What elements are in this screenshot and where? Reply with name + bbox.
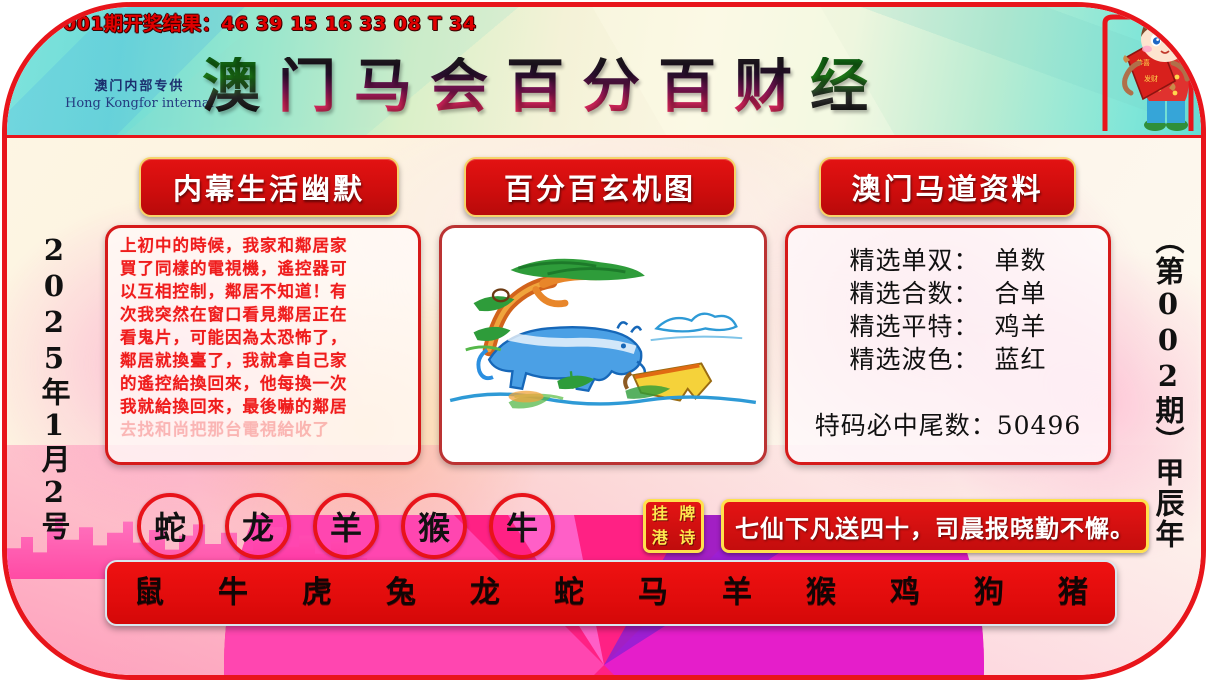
- zodiac-picks-row: 蛇 龙 羊 猴 牛: [137, 493, 555, 559]
- masthead-title: 澳 门 马 会 百 分 百 财 经: [202, 57, 868, 115]
- info-rows: 精选单双： 单数 精选合数： 合单 精选平特： 鸡羊 精选波色： 蓝红 特码必中…: [788, 228, 1108, 442]
- draw-result-line: 001期开奖结果：46 39 15 16 33 08 T 34: [63, 9, 477, 36]
- banner-picture[interactable]: 百分百玄机图: [464, 157, 736, 217]
- info-value: 鸡羊: [994, 310, 1046, 343]
- info-value: 蓝红: [994, 343, 1046, 376]
- info-row: 精选波色： 蓝红: [798, 343, 1098, 376]
- banner-info-label: 澳门马道资料: [851, 166, 1043, 208]
- masthead-char-7: 财: [734, 57, 792, 115]
- poem-badge-char: 挂: [652, 506, 668, 522]
- banner-joke[interactable]: 内幕生活幽默: [139, 157, 399, 217]
- joke-line: 看鬼片，可能因為太恐怖了，: [120, 326, 408, 349]
- poem-badge-char: 港: [652, 530, 668, 546]
- banner-picture-label: 百分百玄机图: [504, 166, 696, 208]
- zodiac-pick[interactable]: 猴: [401, 493, 467, 559]
- masthead-char-3: 会: [430, 57, 488, 115]
- mystery-picture: [449, 235, 757, 455]
- picture-panel: [439, 225, 767, 465]
- info-key: 精选合数：: [850, 277, 980, 310]
- info-row: 精选单双： 单数: [798, 244, 1098, 277]
- masthead-char-6: 百: [658, 57, 716, 115]
- info-panel: 精选单双： 单数 精选合数： 合单 精选平特： 鸡羊 精选波色： 蓝红 特码必中…: [785, 225, 1111, 465]
- joke-line: 我就給換回來，最後嚇的鄰居: [120, 395, 408, 418]
- zodiac-pick[interactable]: 蛇: [137, 493, 203, 559]
- section-banner-row: 内幕生活幽默 百分百玄机图 澳门马道资料: [7, 157, 1201, 219]
- masthead-char-1: 门: [278, 57, 336, 115]
- joke-line: 買了同樣的電視機，遙控器可: [120, 257, 408, 280]
- poem-text: 七仙下凡送四十，司晨报晓勤不懈。: [735, 509, 1135, 544]
- zodiac-pick[interactable]: 羊: [313, 493, 379, 559]
- zodiac-strip-item[interactable]: 蛇: [554, 576, 584, 610]
- poem-badge[interactable]: 挂 牌 港 诗: [643, 499, 704, 553]
- banner-joke-label: 内幕生活幽默: [173, 166, 365, 208]
- joke-text: 上初中的時候，我家和鄰居家 買了同樣的電視機，遙控器可 以互相控制，鄰居不知道！…: [108, 228, 418, 441]
- zodiac-strip-item[interactable]: 狗: [974, 576, 1004, 610]
- info-row: 精选合数： 合单: [798, 277, 1098, 310]
- zodiac-strip-item[interactable]: 兔: [386, 576, 416, 610]
- joke-panel: 上初中的時候，我家和鄰居家 買了同樣的電視機，遙控器可 以互相控制，鄰居不知道！…: [105, 225, 421, 465]
- masthead-char-8: 经: [810, 57, 868, 115]
- masthead-char-2: 马: [354, 57, 412, 115]
- site-logo: 澳门内部专供 Hong Kongfor internal: [65, 75, 214, 111]
- joke-line-faded: 去找和尚把那台電視給收了: [120, 418, 408, 441]
- zodiac-strip: 鼠 牛 虎 兔 龙 蛇 马 羊 猴 鸡 狗 猪: [105, 560, 1117, 626]
- zodiac-strip-item[interactable]: 羊: [722, 576, 752, 610]
- info-value: 合单: [994, 277, 1046, 310]
- info-key: 精选平特：: [850, 310, 980, 343]
- poem-badge-char: 牌: [679, 506, 695, 522]
- special-tail-label: 特码必中尾数：: [815, 411, 997, 440]
- info-row: 精选平特： 鸡羊: [798, 310, 1098, 343]
- joke-line: 以互相控制，鄰居不知道！有: [120, 280, 408, 303]
- masthead-char-5: 分: [582, 57, 640, 115]
- mascot-child-icon: 恭喜 发财: [1099, 13, 1195, 135]
- poem-badge-char: 诗: [679, 530, 695, 546]
- zodiac-pick[interactable]: 龙: [225, 493, 291, 559]
- special-tail-value: 50496: [997, 411, 1082, 440]
- joke-line: 鄰居就換臺了，我就拿自己家: [120, 349, 408, 372]
- zodiac-strip-item[interactable]: 虎: [302, 576, 332, 610]
- poster-frame: 001期开奖结果：46 39 15 16 33 08 T 34 澳门内部专供 H…: [2, 2, 1206, 680]
- special-tail-row: 特码必中尾数：50496: [798, 406, 1098, 442]
- zodiac-strip-item[interactable]: 鸡: [890, 576, 920, 610]
- info-key: 精选波色：: [850, 343, 980, 376]
- zodiac-strip-item[interactable]: 马: [638, 576, 668, 610]
- banner-info[interactable]: 澳门马道资料: [819, 157, 1076, 217]
- info-key: 精选单双：: [850, 244, 980, 277]
- issue-date-vertical: 2025年1月2号: [21, 222, 75, 552]
- poster-root: 001期开奖结果：46 39 15 16 33 08 T 34 澳门内部专供 H…: [0, 0, 1208, 682]
- zodiac-strip-item[interactable]: 鼠: [134, 576, 164, 610]
- logo-chinese: 澳门内部专供: [65, 75, 214, 94]
- zodiac-pick[interactable]: 牛: [489, 493, 555, 559]
- joke-line: 上初中的時候，我家和鄰居家: [120, 234, 408, 257]
- mystery-picture-svg: [449, 235, 757, 455]
- masthead-char-0: 澳: [202, 57, 260, 115]
- poem-bar: 七仙下凡送四十，司晨报晓勤不懈。: [721, 499, 1149, 553]
- zodiac-strip-item[interactable]: 牛: [218, 576, 248, 610]
- zodiac-strip-item[interactable]: 龙: [470, 576, 500, 610]
- zodiac-strip-item[interactable]: 猴: [806, 576, 836, 610]
- info-value: 单数: [994, 244, 1046, 277]
- svg-text:发财: 发财: [1144, 74, 1158, 83]
- joke-line: 次我突然在窗口看見鄰居正在: [120, 303, 408, 326]
- joke-line: 的遙控給換回來，他每換一次: [120, 372, 408, 395]
- logo-english: Hong Kongfor internal: [65, 96, 214, 111]
- masthead-char-4: 百: [506, 57, 564, 115]
- zodiac-strip-item[interactable]: 猪: [1058, 576, 1088, 610]
